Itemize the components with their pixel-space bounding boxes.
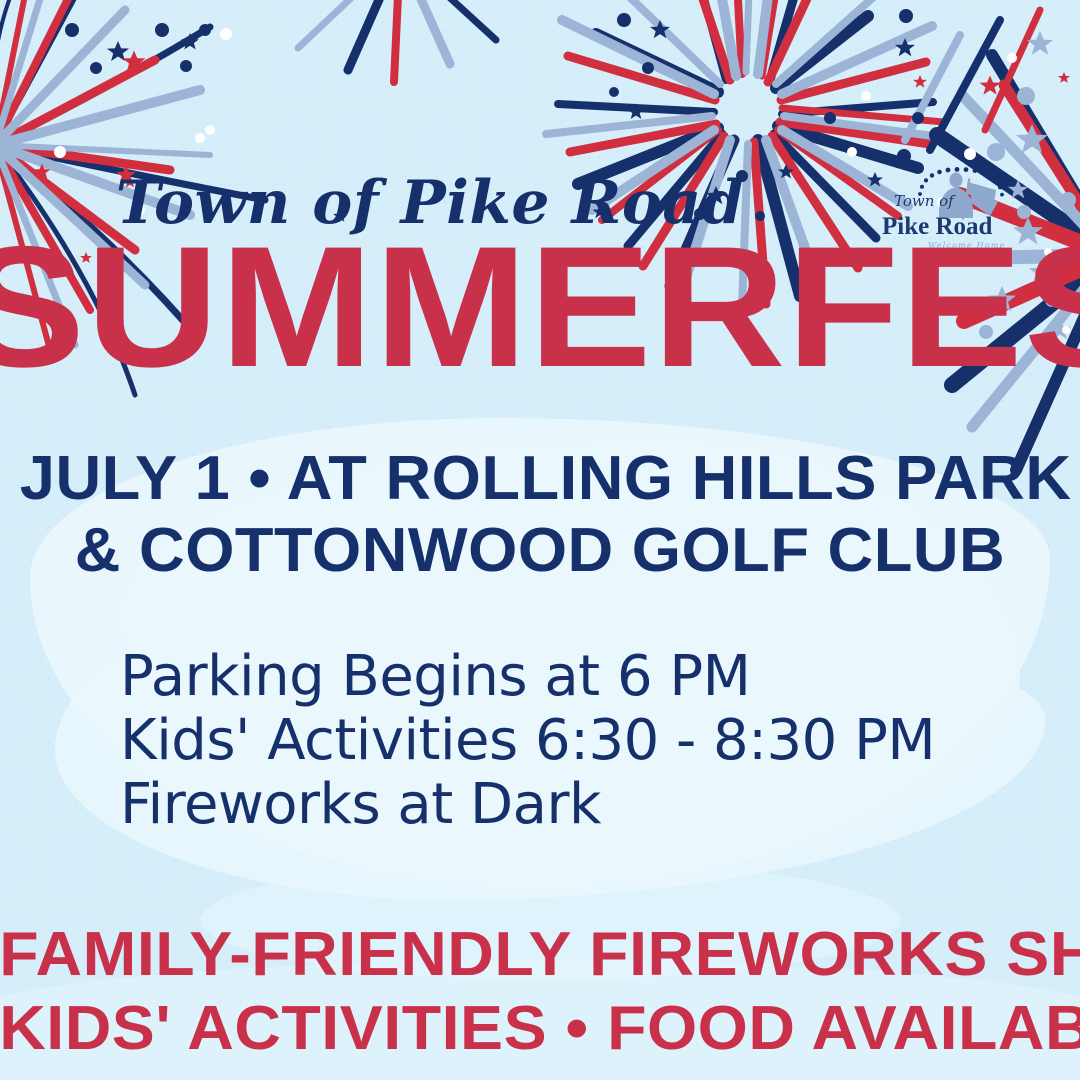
location-line-2: & COTTONWOOD GOLF CLUB (20, 515, 1060, 587)
event-title: SUMMERFEST (0, 232, 1080, 382)
tagline-line-1: FAMILY-FRIENDLY FIREWORKS SHOW (0, 918, 1080, 992)
schedule-line-1: Parking Begins at 6 PM (120, 645, 935, 709)
summerfest-poster: Town of Pike Road Welcome Home Town of P… (0, 0, 1080, 1080)
location-line-1: JULY 1 • AT ROLLING HILLS PARK (20, 443, 1060, 515)
event-tagline-block: FAMILY-FRIENDLY FIREWORKS SHOW KIDS' ACT… (0, 918, 1080, 1066)
schedule-line-2: Kids' Activities 6:30 - 8:30 PM (120, 709, 935, 773)
event-schedule-block: Parking Begins at 6 PM Kids' Activities … (120, 645, 935, 837)
event-location-block: JULY 1 • AT ROLLING HILLS PARK & COTTONW… (20, 443, 1060, 587)
schedule-line-3: Fireworks at Dark (120, 773, 935, 837)
tagline-line-2: KIDS' ACTIVITIES • FOOD AVAILABLE (0, 992, 1080, 1066)
